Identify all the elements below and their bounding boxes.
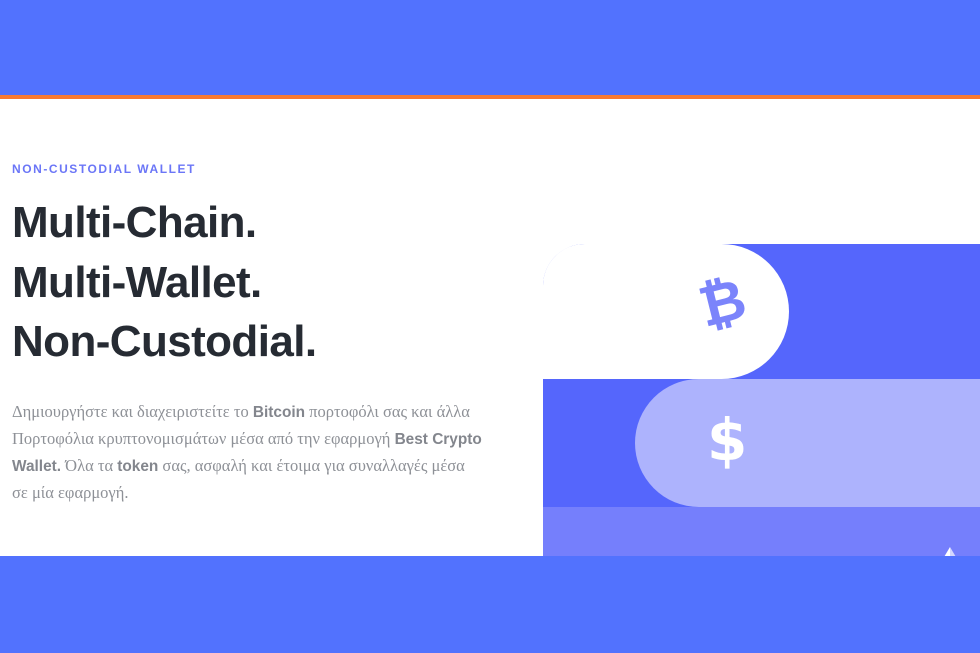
- headline-line-2: Multi-Wallet.: [12, 253, 512, 313]
- paragraph-emphasis: Bitcoin: [253, 404, 305, 421]
- bottom-blue-band: [0, 556, 980, 653]
- paragraph-text: Δημιουργήστε και διαχειριστείτε το: [12, 402, 253, 421]
- page-title: Multi-Chain. Multi-Wallet. Non-Custodial…: [12, 193, 512, 372]
- hero-paragraph: Δημιουργήστε και διαχειριστείτε το Bitco…: [12, 399, 482, 507]
- hero-page: NON-CUSTODIAL WALLET Multi-Chain. Multi-…: [0, 0, 980, 653]
- paragraph-emphasis: token: [117, 458, 158, 475]
- dollar-icon: $: [707, 411, 747, 469]
- eyebrow-label: NON-CUSTODIAL WALLET: [12, 163, 512, 175]
- hero-section: NON-CUSTODIAL WALLET Multi-Chain. Multi-…: [0, 99, 980, 556]
- paragraph-text: Όλα τα: [61, 456, 117, 475]
- dollar-bar: [635, 379, 980, 507]
- top-blue-band: [0, 0, 980, 95]
- headline-line-1: Multi-Chain.: [12, 193, 512, 253]
- bitcoin-bar: [543, 244, 789, 379]
- headline-line-3: Non-Custodial.: [12, 312, 512, 372]
- hero-copy-column: NON-CUSTODIAL WALLET Multi-Chain. Multi-…: [12, 163, 512, 506]
